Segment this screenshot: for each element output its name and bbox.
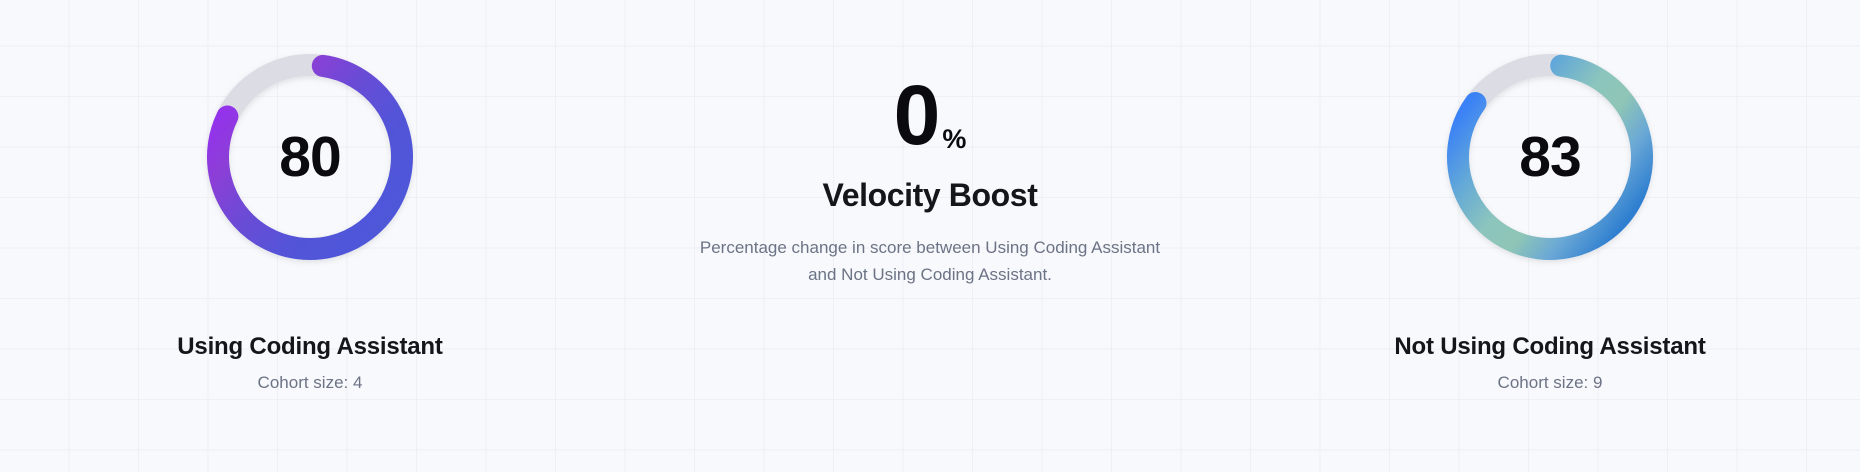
delta-heading: Velocity Boost: [620, 177, 1240, 214]
left-cohort-size: Cohort size: 4: [0, 373, 620, 393]
right-cohort-size: Cohort size: 9: [1240, 373, 1860, 393]
right-cohort-label: Not Using Coding Assistant: [1240, 333, 1860, 362]
left-gauge: 80: [204, 51, 416, 263]
left-gauge-value: 80: [204, 51, 416, 263]
right-cohort-panel: 83 Not Using Coding Assistant Cohort siz…: [1240, 0, 1860, 472]
delta-summary-panel: 0 % Velocity Boost Percentage change in …: [620, 0, 1240, 472]
right-gauge: 83: [1444, 51, 1656, 263]
velocity-boost-comparison-panel: 80 Using Coding Assistant Cohort size: 4…: [0, 0, 1860, 472]
delta-description: Percentage change in score between Using…: [695, 234, 1165, 288]
delta-value-row: 0 %: [620, 76, 1240, 156]
right-caption: Not Using Coding Assistant Cohort size: …: [1240, 333, 1860, 393]
right-gauge-value: 83: [1444, 51, 1656, 263]
delta-unit: %: [942, 126, 966, 153]
left-caption: Using Coding Assistant Cohort size: 4: [0, 333, 620, 393]
left-cohort-panel: 80 Using Coding Assistant Cohort size: 4: [0, 0, 620, 472]
left-cohort-label: Using Coding Assistant: [0, 333, 620, 362]
delta-value: 0: [894, 76, 939, 156]
delta-summary-inner: 0 % Velocity Boost Percentage change in …: [620, 76, 1240, 288]
